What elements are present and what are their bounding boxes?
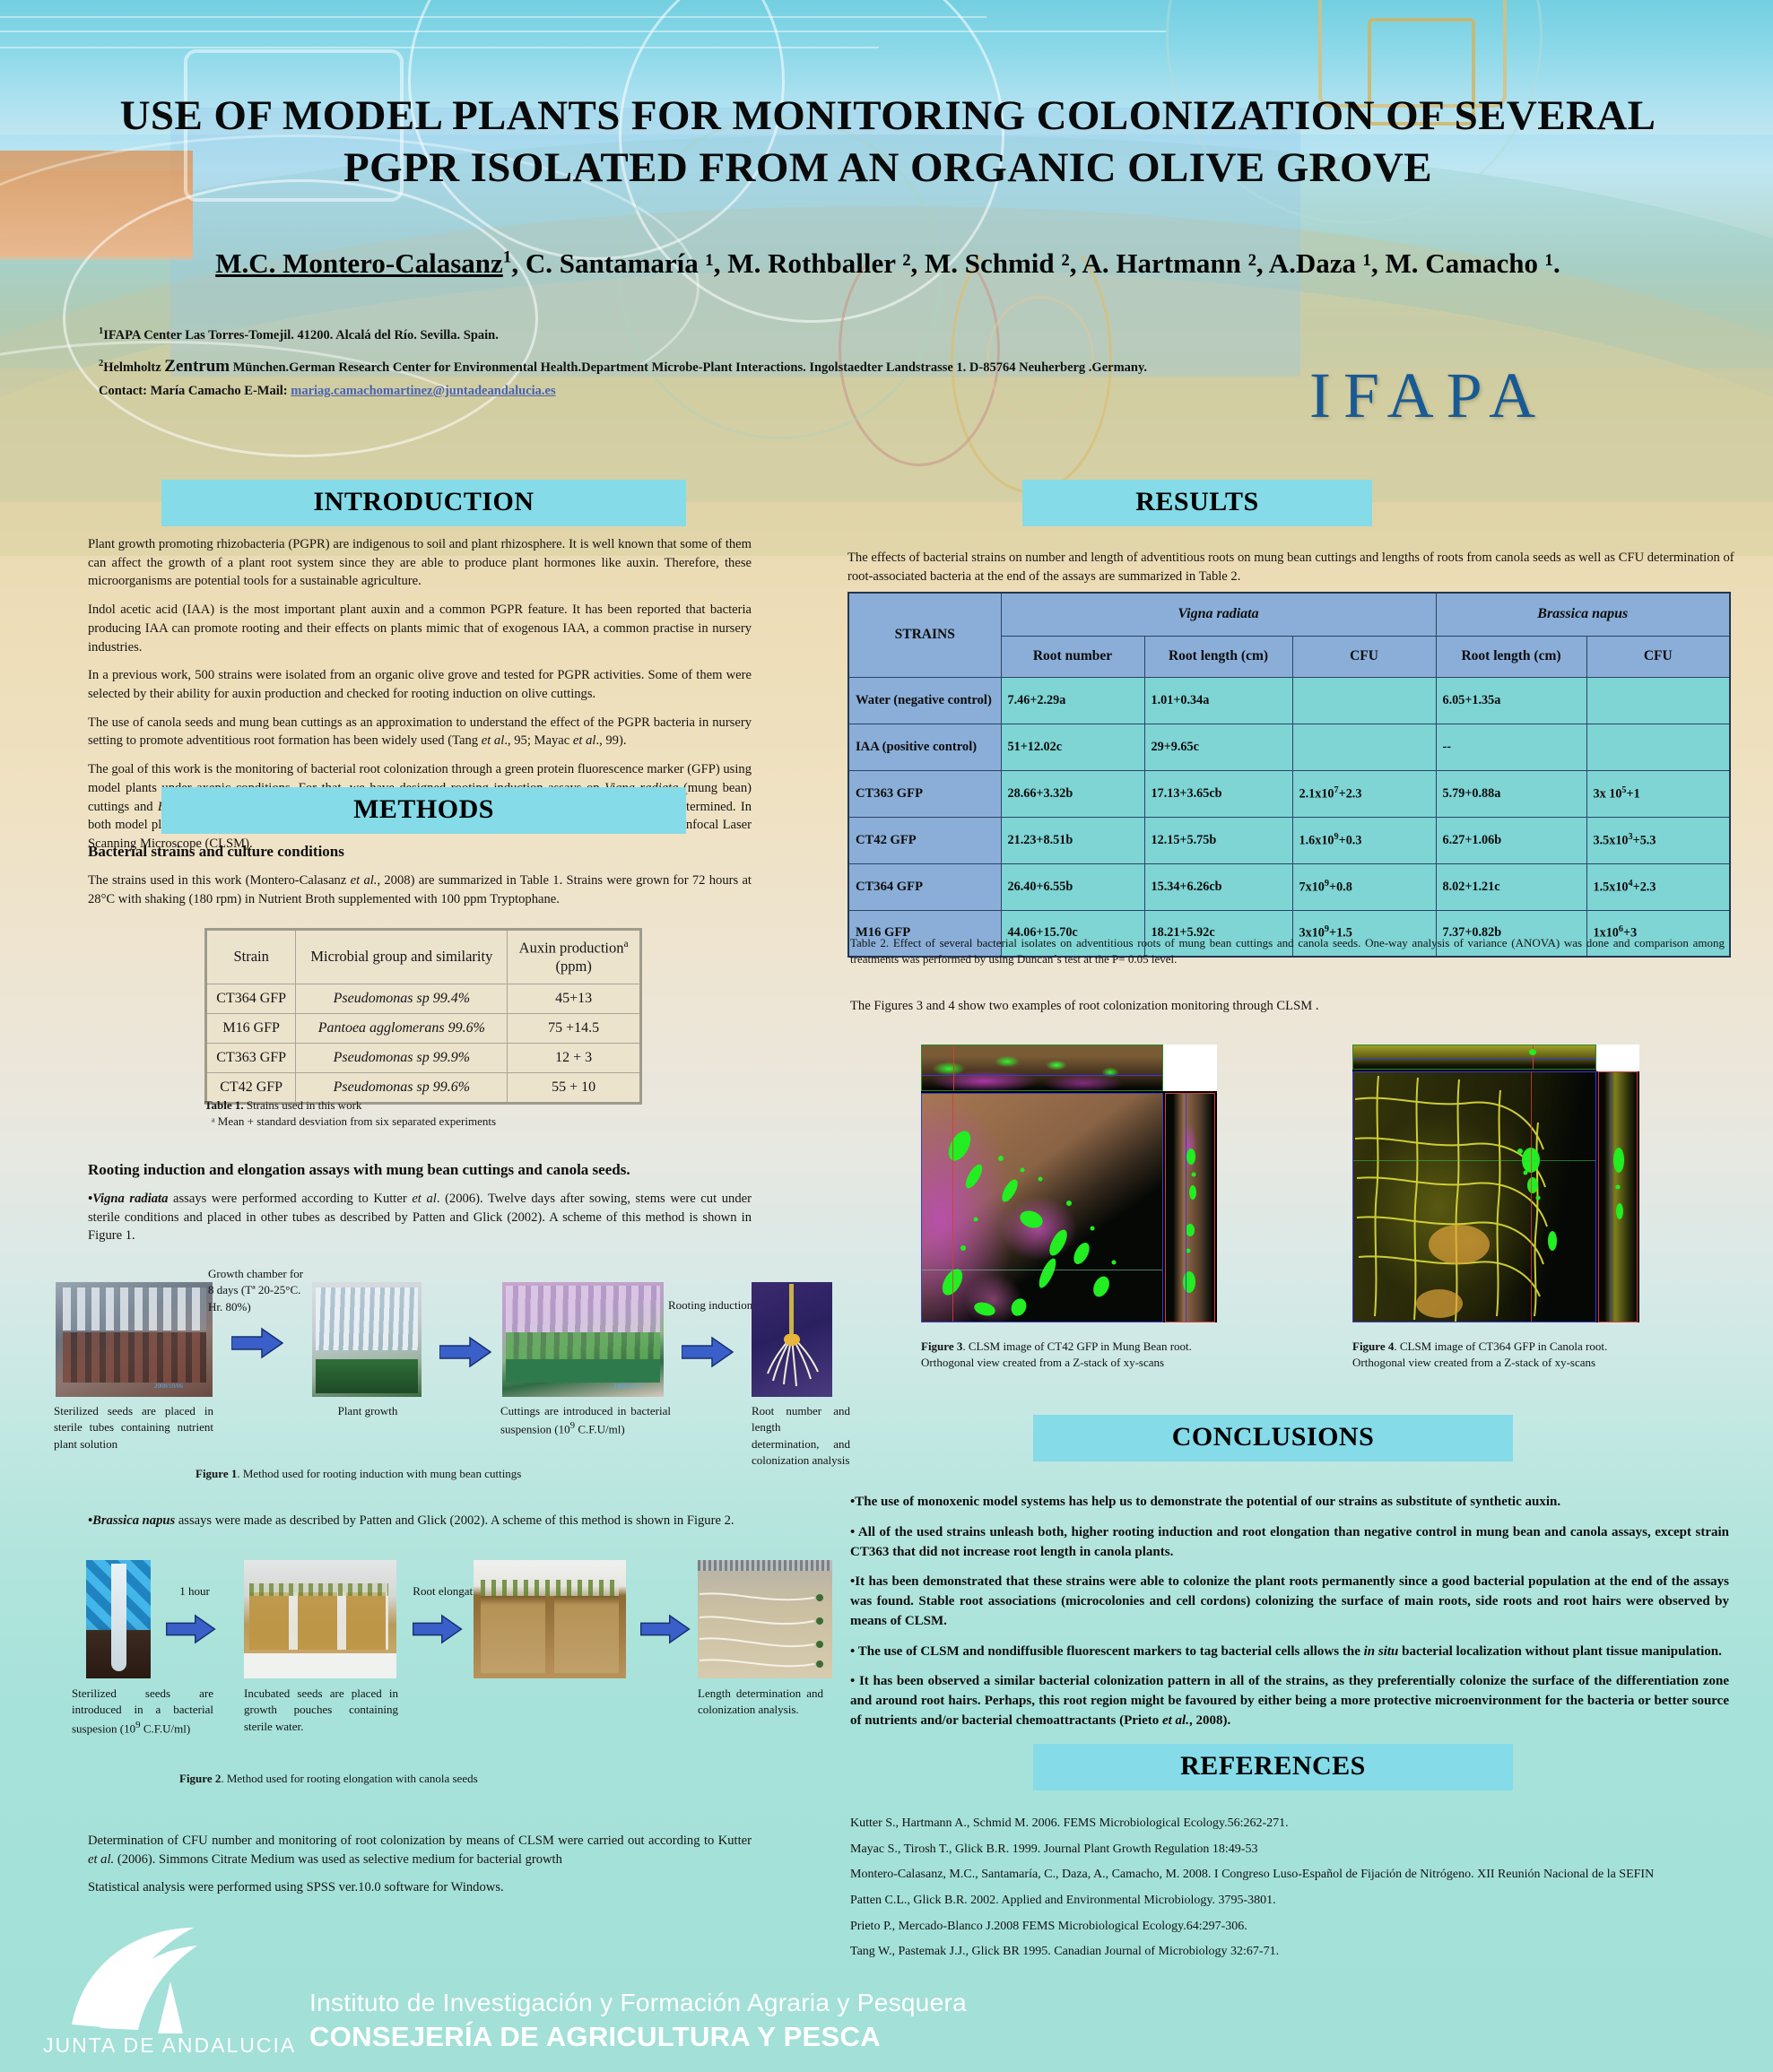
clsm-yz-strip <box>1165 1093 1215 1322</box>
list-item: Kutter S., Hartmann A., Schmid M. 2006. … <box>850 1811 1747 1837</box>
clsm-xz-strip <box>1352 1045 1596 1070</box>
affiliation-1-text: IFAPA Center Las Torres-Tomejil. 41200. … <box>103 328 499 342</box>
table-2-header-bn-root-length: Root length (cm) <box>1436 636 1586 677</box>
photo-detail <box>63 1332 206 1383</box>
table-2-cell-bn-cfu <box>1586 677 1730 724</box>
table-2-header-vigna-radiata: Vigna radiata <box>1001 593 1436 636</box>
table-1-cell-group: Pantoea agglomerans 99.6% <box>296 1013 508 1043</box>
table-2-row-label: CT364 GFP <box>848 863 1001 910</box>
figure2-photo-tube <box>86 1560 151 1678</box>
photo-detail <box>63 1287 206 1331</box>
table-2-cell-vr-root-length: 17.13+3.65cb <box>1144 770 1292 817</box>
table-2-row-label: IAA (positive control) <box>848 724 1001 770</box>
table-1-cell-strain: M16 GFP <box>206 1013 296 1043</box>
methods-subheading-rooting: Rooting induction and elongation assays … <box>88 1161 769 1179</box>
section-header-introduction: INTRODUCTION <box>161 480 686 526</box>
figure3-clsm-image-ct42 <box>921 1045 1217 1322</box>
table-2-header-vr-cfu: CFU <box>1292 636 1436 677</box>
figure1-arrow-3 <box>682 1336 734 1373</box>
conclusion-4: • The use of CLSM and nondiffusible fluo… <box>850 1643 1729 1662</box>
table-2-row-label: CT363 GFP <box>848 770 1001 817</box>
table-2-cell-vr-root-length: 29+9.65c <box>1144 724 1292 770</box>
contact-label: Contact: María Camacho E-Mail: <box>99 384 288 398</box>
figure1-step3-label: Cuttings are introduced in bacterial sus… <box>500 1403 671 1438</box>
figure2-photo-bags <box>474 1560 626 1678</box>
figure1-photo-tubes: 2008/10/06 <box>56 1282 213 1397</box>
table-2-cell-bn-cfu: 1.5x104+2.3 <box>1586 863 1730 910</box>
table-2-species-row: STRAINS Vigna radiata Brassica napus <box>848 593 1730 636</box>
list-item: Patten C.L., Glick B.R. 2002. Applied an… <box>850 1888 1747 1914</box>
list-item: Tang W., Pastemak J.J., Glick BR 1995. C… <box>850 1939 1747 1965</box>
table-row: Water (negative control) 7.46+2.29a 1.01… <box>848 677 1730 724</box>
remaining-authors: , C. Santamaría ¹, M. Rothballer ², M. S… <box>511 247 1560 279</box>
conclusion-2: • All of the used strains unleash both, … <box>850 1523 1729 1563</box>
figure1-step1-label: Sterilized seeds are placed in sterile t… <box>54 1403 213 1452</box>
conclusion-1: •The use of monoxenic model systems has … <box>850 1493 1729 1513</box>
list-item: Montero-Calasanz, M.C., Santamaría, C., … <box>850 1862 1747 1888</box>
figure2-step4-label: Length determination and colonization an… <box>698 1686 823 1719</box>
first-author: M.C. Montero-Calasanz <box>215 247 503 279</box>
table-row: IAA (positive control) 51+12.02c 29+9.65… <box>848 724 1730 770</box>
affiliation-2: 2Helmholtz Zentrum München.German Resear… <box>99 357 1157 377</box>
table-2-cell-vr-cfu <box>1292 677 1436 724</box>
table-1-caption: Table 1. Strains used in this work ᵃ Mea… <box>204 1097 671 1130</box>
table-1-cell-group: Pseudomonas sp 99.9% <box>296 1043 508 1072</box>
photo-detail <box>506 1359 660 1383</box>
table-1-cell-strain: CT363 GFP <box>206 1043 296 1072</box>
table-2-header-vr-root-number: Root number <box>1001 636 1144 677</box>
table-2-cell-vr-root-length: 15.34+6.26cb <box>1144 863 1292 910</box>
table-row: CT364 GFP 26.40+6.55b 15.34+6.26cb 7x109… <box>848 863 1730 910</box>
table-2-cell-bn-cfu <box>1586 724 1730 770</box>
table-row: CT363 GFP 28.66+3.32b 17.13+3.65cb 2.1x1… <box>848 770 1730 817</box>
table-1-strains: Strain Microbial group and similarity Au… <box>204 928 642 1105</box>
institute-footer: Instituto de Investigación y Formación A… <box>309 1989 967 2053</box>
table-2-cell-vr-root-number: 28.66+3.32b <box>1001 770 1144 817</box>
table-2-row-label: CT42 GFP <box>848 817 1001 863</box>
affiliation-2-text-b: München.German Research Center for Envir… <box>230 360 1147 375</box>
table-2-cell-vr-root-number: 51+12.02c <box>1001 724 1144 770</box>
conclusion-5: • It has been observed a similar bacteri… <box>850 1672 1729 1730</box>
table-2-cell-bn-root-length: 8.02+1.21c <box>1436 863 1586 910</box>
section-header-methods: METHODS <box>161 787 686 834</box>
table-2-header-strains: STRAINS <box>848 593 1001 677</box>
table-1-cell-group: Pseudomonas sp 99.4% <box>296 984 508 1013</box>
contact-line: Contact: María Camacho E-Mail: mariag.ca… <box>99 384 556 399</box>
affiliation-1: 1IFAPA Center Las Torres-Tomejil. 41200.… <box>99 326 499 343</box>
title-line-1: USE OF MODEL PLANTS FOR MONITORING COLON… <box>54 90 1722 142</box>
figure1-step4-label: Root number and length determination, an… <box>752 1403 850 1469</box>
contact-email-link[interactable]: mariag.camachomartinez@juntadeandalucia.… <box>291 384 555 398</box>
intro-paragraph-4: The use of canola seeds and mung bean cu… <box>88 714 752 750</box>
table-1-header-strain: Strain <box>206 930 296 984</box>
figure1-photo-root <box>752 1282 832 1397</box>
table-2-cell-vr-cfu: 1.6x109+0.3 <box>1292 817 1436 863</box>
table-row: CT363 GFP Pseudomonas sp 99.9% 12 + 3 <box>206 1043 641 1072</box>
methods-strains-text: The strains used in this work (Montero-C… <box>88 871 752 918</box>
figure2-step1-label: Sterilized seeds are introduced in a bac… <box>72 1686 213 1738</box>
figure2-arrow-3 <box>640 1614 691 1649</box>
ifapa-logo: IFAPA <box>1309 359 1548 433</box>
table-2-cell-vr-cfu: 7x109+0.8 <box>1292 863 1436 910</box>
figure2-arrow-1 <box>166 1614 216 1649</box>
table-2-cell-vr-cfu: 2.1x107+2.3 <box>1292 770 1436 817</box>
methods-cfu-text: Determination of CFU number and monitori… <box>88 1832 752 1907</box>
figure1-caption: Figure 1. Method used for rooting induct… <box>196 1466 644 1482</box>
methods-vigna-text: •Vigna radiata assays were performed acc… <box>88 1190 752 1255</box>
figure1-arrow-2 <box>439 1336 491 1373</box>
clsm-xz-strip <box>921 1045 1163 1091</box>
title-line-2: PGPR ISOLATED FROM AN ORGANIC OLIVE GROV… <box>54 142 1722 194</box>
conclusions-body: •The use of monoxenic model systems has … <box>850 1493 1729 1742</box>
section-header-results: RESULTS <box>1022 480 1372 526</box>
figure2-photo-root-length <box>698 1560 832 1678</box>
figure2-caption: Figure 2. Method used for rooting elonga… <box>179 1771 646 1787</box>
table-1-header-auxin: Auxin productiona (ppm) <box>508 930 641 984</box>
table-2-caption: Table 2. Effect of several bacterial iso… <box>850 935 1725 967</box>
clsm-white-corner <box>1163 1045 1217 1091</box>
figure4-caption: Figure 4. CLSM image of CT364 GFP in Can… <box>1352 1339 1630 1371</box>
results-clsm-intro: The Figures 3 and 4 show two examples of… <box>850 997 1729 1026</box>
table-2-row-label: Water (negative control) <box>848 677 1001 724</box>
methods-statistics-text: Statistical analysis were performed usin… <box>88 1878 752 1897</box>
figure3-caption: Figure 3. CLSM image of CT42 GFP in Mung… <box>921 1339 1199 1371</box>
figure2-arrow-1-label: 1 hour <box>169 1583 221 1600</box>
table-2-cell-vr-root-number: 7.46+2.29a <box>1001 677 1144 724</box>
figure1-photo-plant-growth <box>312 1282 422 1397</box>
list-item: Mayac S., Tirosh T., Glick B.R. 1999. Jo… <box>850 1837 1747 1863</box>
figure2-photo-pouches <box>244 1560 396 1678</box>
page-title: USE OF MODEL PLANTS FOR MONITORING COLON… <box>54 90 1722 195</box>
photo-detail <box>506 1332 660 1359</box>
table-2-cell-vr-cfu <box>1292 724 1436 770</box>
photo-detail <box>316 1359 418 1393</box>
photo-detail <box>316 1287 418 1350</box>
first-author-affiliation-marker: 1 <box>503 248 512 267</box>
figure2-step2-label: Incubated seeds are placed in growth pou… <box>244 1686 398 1735</box>
intro-paragraph-2: Indol acetic acid (IAA) is the most impo… <box>88 601 752 656</box>
table-2-cell-bn-root-length: 5.79+0.88a <box>1436 770 1586 817</box>
list-item: Prieto P., Mercado-Blanco J.2008 FEMS Mi… <box>850 1914 1747 1940</box>
table-row: CT364 GFP Pseudomonas sp 99.4% 45+13 <box>206 984 641 1013</box>
intro-paragraph-3: In a previous work, 500 strains were iso… <box>88 666 752 703</box>
table-1-header-row: Strain Microbial group and similarity Au… <box>206 930 641 984</box>
table-1-cell-auxin: 12 + 3 <box>508 1043 641 1072</box>
clsm-yz-strip <box>1598 1071 1638 1322</box>
table-2-cell-vr-root-length: 12.15+5.75b <box>1144 817 1292 863</box>
table-2-cell-bn-root-length: 6.05+1.35a <box>1436 677 1586 724</box>
methods-subheading-strains: Bacterial strains and culture conditions <box>88 843 752 861</box>
table-2-cell-vr-root-number: 26.40+6.55b <box>1001 863 1144 910</box>
institute-name-line-1: Instituto de Investigación y Formación A… <box>309 1989 967 2017</box>
conclusion-3: •It has been demonstrated that these str… <box>850 1573 1729 1631</box>
table-row: M16 GFP Pantoea agglomerans 99.6% 75 +14… <box>206 1013 641 1043</box>
results-intro-text: The effects of bacterial strains on numb… <box>847 549 1735 595</box>
table-1-cell-auxin: 45+13 <box>508 984 641 1013</box>
table-1-cell-strain: CT364 GFP <box>206 984 296 1013</box>
section-header-references: REFERENCES <box>1033 1744 1513 1790</box>
table-1-header-group: Microbial group and similarity <box>296 930 508 984</box>
table-2-cell-bn-cfu: 3x 105+1 <box>1586 770 1730 817</box>
table-row: CT42 GFP 21.23+8.51b 12.15+5.75b 1.6x109… <box>848 817 1730 863</box>
section-header-conclusions: CONCLUSIONS <box>1033 1415 1513 1461</box>
intro-paragraph-1: Plant growth promoting rhizobacteria (PG… <box>88 535 752 591</box>
figure1-photo-cuttings: 2008/10/17 <box>502 1282 664 1397</box>
clsm-xy-main <box>921 1093 1163 1322</box>
table-2-header-vr-root-length: Root length (cm) <box>1144 636 1292 677</box>
figure1-arrow-1 <box>231 1327 283 1364</box>
clsm-white-corner <box>1596 1045 1639 1071</box>
affiliation-2-zentrum: Zentrum <box>164 357 230 376</box>
table-2-cell-bn-root-length: -- <box>1436 724 1586 770</box>
table-2-header-brassica-napus: Brassica napus <box>1436 593 1730 636</box>
table-2-cell-vr-root-number: 21.23+8.51b <box>1001 817 1144 863</box>
photo-detail <box>506 1286 660 1332</box>
figure2-arrow-2 <box>413 1614 463 1649</box>
table-2-header-bn-cfu: CFU <box>1586 636 1730 677</box>
figure1-arrow-1-label: Growth chamber for 8 days (Tª 20-25°C. H… <box>208 1266 314 1315</box>
figure1-step2-label: Plant growth <box>305 1403 430 1419</box>
figure4-clsm-image-ct364 <box>1352 1045 1639 1322</box>
table-1-cell-auxin: 75 +14.5 <box>508 1013 641 1043</box>
institute-name-line-2: CONSEJERÍA DE AGRICULTURA Y PESCA <box>309 2021 967 2053</box>
affiliation-2-text-a: Helmholtz <box>103 360 164 375</box>
table-2-cell-vr-root-length: 1.01+0.34a <box>1144 677 1292 724</box>
table-2-cell-bn-root-length: 6.27+1.06b <box>1436 817 1586 863</box>
methods-brassica-text: •Brassica napus assays were made as desc… <box>88 1512 752 1540</box>
table-2-results: STRAINS Vigna radiata Brassica napus Roo… <box>847 592 1731 958</box>
author-list: M.C. Montero-Calasanz1, C. Santamaría ¹,… <box>54 247 1722 280</box>
clsm-xy-main <box>1352 1071 1596 1322</box>
junta-logo-text: JUNTA DE ANDALUCIA <box>43 2033 296 2058</box>
table-2-cell-bn-cfu: 3.5x103+5.3 <box>1586 817 1730 863</box>
references-list: Kutter S., Hartmann A., Schmid M. 2006. … <box>850 1811 1747 1965</box>
